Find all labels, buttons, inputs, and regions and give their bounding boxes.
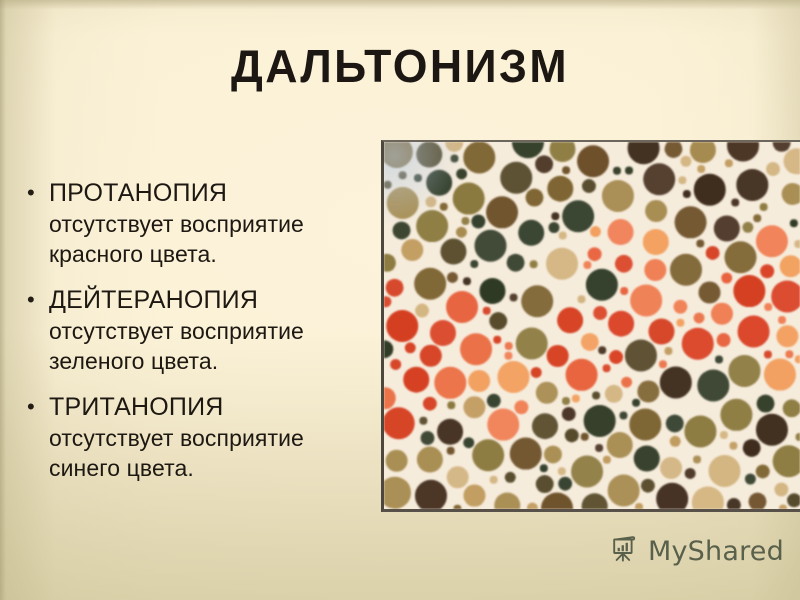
color-blindness-test-image — [381, 140, 800, 512]
list-item-body: ДЕЙТЕРАНОПИЯ отсутствует восприятие зеле… — [49, 285, 370, 376]
list-item-description-line-1: отсутствует восприятие — [49, 209, 370, 239]
list-item-body: ПРОТАНОПИЯ отсутствует восприятие красно… — [49, 178, 370, 269]
list-item: • ПРОТАНОПИЯ отсутствует восприятие крас… — [18, 178, 370, 269]
list-item-description-line-2: синего цвета. — [49, 453, 370, 483]
list-item-term: ТРИТАНОПИЯ — [49, 392, 370, 423]
bullet-marker-icon: • — [18, 285, 49, 315]
bullet-list: • ПРОТАНОПИЯ отсутствует восприятие крас… — [18, 178, 370, 483]
list-item-description-line-2: красного цвета. — [49, 239, 370, 269]
ishihara-plate-dots — [384, 142, 800, 509]
slide-background-left-edge — [0, 0, 6, 600]
presentation-easel-chart-icon — [610, 534, 640, 569]
list-item-body: ТРИТАНОПИЯ отсутствует восприятие синего… — [49, 392, 370, 483]
page-title: ДАЛЬТОНИЗМ — [12, 42, 788, 90]
list-item-description-line-1: отсутствует восприятие — [49, 423, 370, 453]
list-item-term: ДЕЙТЕРАНОПИЯ — [49, 285, 370, 316]
list-item: • ТРИТАНОПИЯ отсутствует восприятие сине… — [18, 392, 370, 483]
slide-canvas: ДАЛЬТОНИЗМ • ПРОТАНОПИЯ отсутствует восп… — [0, 0, 800, 600]
list-item-description-line-1: отсутствует восприятие — [49, 316, 370, 346]
bullet-marker-icon: • — [18, 392, 49, 422]
list-item: • ДЕЙТЕРАНОПИЯ отсутствует восприятие зе… — [18, 285, 370, 376]
myshared-wordmark: MyShared — [648, 538, 784, 565]
list-item-description-line-2: зеленого цвета. — [49, 346, 370, 376]
bullet-marker-icon: • — [18, 178, 49, 208]
myshared-logo: MyShared — [610, 534, 784, 569]
list-item-term: ПРОТАНОПИЯ — [49, 178, 370, 209]
